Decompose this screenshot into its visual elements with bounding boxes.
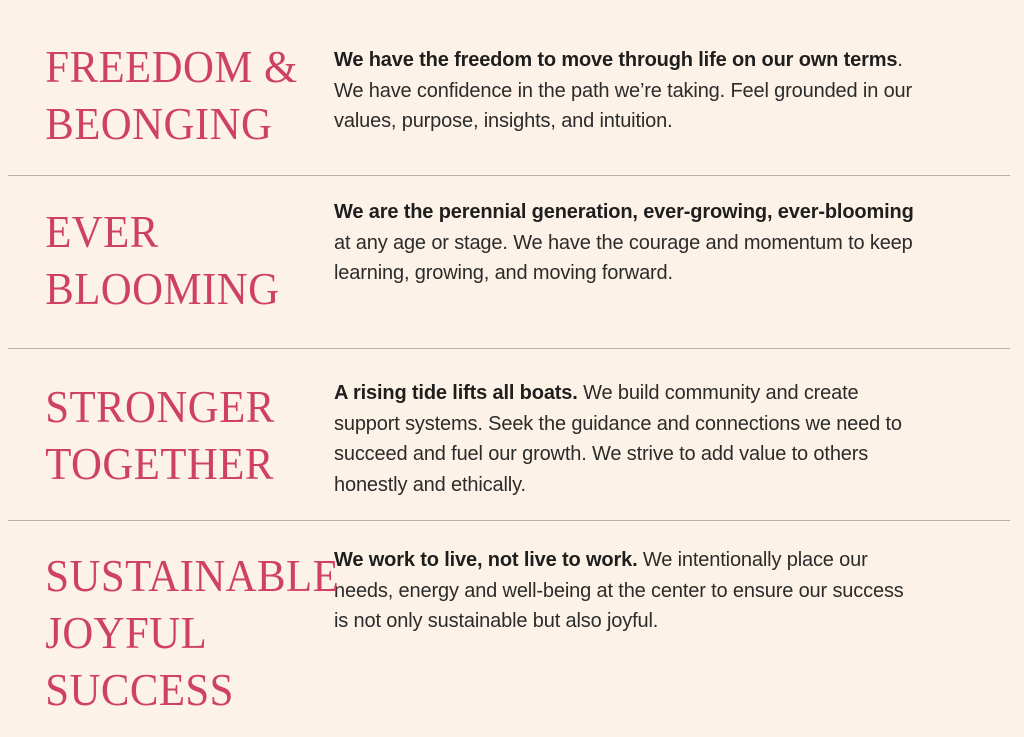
core-values-table: FREEDOM & BEONGING We have the freedom t…: [0, 0, 1024, 737]
value-row: STRONGER TOGETHER A rising tide lifts al…: [0, 348, 1024, 520]
value-lead-text: We have the freedom to move through life…: [334, 49, 897, 71]
value-heading-freedom-belonging: FREEDOM & BEONGING: [8, 0, 304, 152]
value-rest-text: at any age or stage. We have the courage…: [334, 232, 913, 285]
value-description: We have the freedom to move through life…: [326, 0, 946, 137]
value-description: We are the perennial generation, ever-gr…: [326, 175, 946, 289]
value-row: EVER BLOOMING We are the perennial gener…: [0, 175, 1024, 348]
value-heading-sustainable-joyful-success: SUSTAINABLE JOYFUL SUCCESS: [8, 520, 304, 718]
value-heading-ever-blooming: EVER BLOOMING: [8, 175, 304, 317]
value-description: We work to live, not live to work. We in…: [326, 520, 946, 637]
value-row: FREEDOM & BEONGING We have the freedom t…: [0, 0, 1024, 175]
value-lead-text: A rising tide lifts all boats.: [334, 382, 578, 404]
value-row: SUSTAINABLE JOYFUL SUCCESS We work to li…: [0, 520, 1024, 737]
value-description: A rising tide lifts all boats. We build …: [326, 348, 946, 500]
value-lead-text: We work to live, not live to work.: [334, 549, 637, 571]
value-heading-stronger-together: STRONGER TOGETHER: [8, 348, 304, 492]
value-lead-text: We are the perennial generation, ever-gr…: [334, 201, 914, 223]
